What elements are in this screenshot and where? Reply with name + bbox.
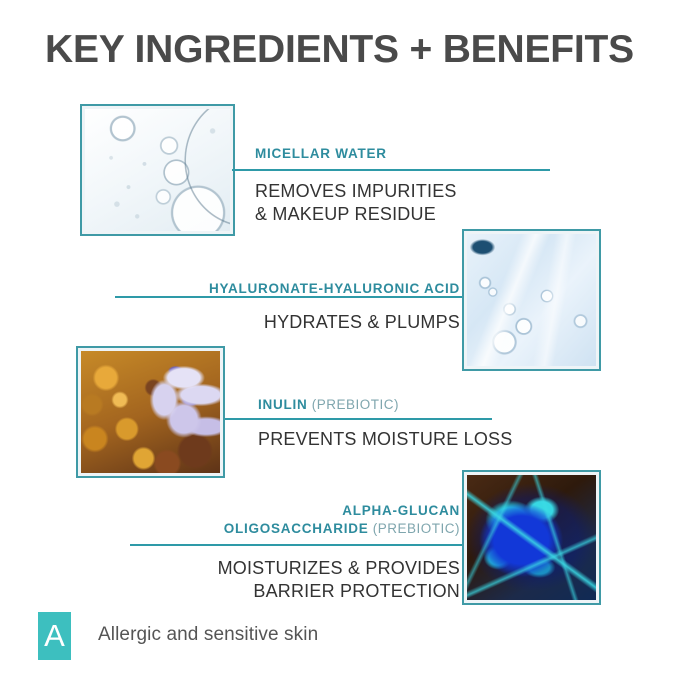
page-title: KEY INGREDIENTS + BENEFITS	[0, 28, 679, 72]
ingredient-image-inulin	[76, 346, 225, 478]
benefit-line: BARRIER PROTECTION	[218, 580, 460, 603]
micellar-water-bubbles-icon	[85, 109, 230, 231]
divider-alpha-glucan	[130, 544, 462, 546]
hyaluronic-gel-droplets-icon	[467, 234, 596, 366]
benefit-line: & MAKEUP RESIDUE	[255, 203, 457, 226]
divider-micellar-water	[232, 169, 550, 171]
skin-type-badge-letter: A	[38, 620, 71, 651]
ingredient-benefit-hyaluronic-acid: HYDRATES & PLUMPS	[264, 311, 460, 334]
ingredient-qualifier-text: (PREBIOTIC)	[373, 521, 460, 536]
ingredient-image-hyaluronic-acid	[462, 229, 601, 371]
ingredient-name-line: OLIGOSACCHARIDE (PREBIOTIC)	[224, 520, 460, 538]
divider-hyaluronic-acid	[115, 296, 462, 298]
divider-inulin	[225, 418, 492, 420]
ingredient-name-text: HYALURONATE-HYALURONIC ACID	[209, 281, 460, 296]
ingredient-name-text: INULIN	[258, 397, 308, 412]
ingredient-qualifier: (PREBIOTIC)	[368, 521, 460, 536]
skin-type-badge-label: Allergic and sensitive skin	[98, 624, 318, 646]
ingredient-name-line: ALPHA-GLUCAN	[224, 502, 460, 520]
ingredient-name-text: OLIGOSACCHARIDE	[224, 521, 369, 536]
ingredient-benefit-inulin: PREVENTS MOISTURE LOSS	[258, 428, 512, 451]
ingredient-name-alpha-glucan: ALPHA-GLUCAN OLIGOSACCHARIDE (PREBIOTIC)	[224, 502, 460, 538]
benefit-line: MOISTURIZES & PROVIDES	[218, 557, 460, 580]
ingredient-name-text: MICELLAR WATER	[255, 146, 387, 161]
ingredient-qualifier-text: (PREBIOTIC)	[312, 397, 399, 412]
skin-type-badge: A	[38, 612, 71, 660]
ingredient-name-micellar-water: MICELLAR WATER	[255, 145, 387, 163]
benefit-line: REMOVES IMPURITIES	[255, 180, 457, 203]
ingredient-benefit-micellar-water: REMOVES IMPURITIES & MAKEUP RESIDUE	[255, 180, 457, 226]
microbiome-cell-icon	[467, 475, 596, 600]
chicory-root-flower-icon	[81, 351, 220, 473]
ingredient-image-micellar-water	[80, 104, 235, 236]
ingredient-benefit-alpha-glucan: MOISTURIZES & PROVIDES BARRIER PROTECTIO…	[218, 557, 460, 603]
ingredient-image-alpha-glucan	[462, 470, 601, 605]
ingredients-infographic: KEY INGREDIENTS + BENEFITS MICELLAR WATE…	[0, 0, 679, 679]
ingredient-name-inulin: INULIN (PREBIOTIC)	[258, 396, 399, 414]
ingredient-qualifier: (PREBIOTIC)	[308, 397, 400, 412]
benefit-line: PREVENTS MOISTURE LOSS	[258, 428, 512, 451]
benefit-line: HYDRATES & PLUMPS	[264, 311, 460, 334]
